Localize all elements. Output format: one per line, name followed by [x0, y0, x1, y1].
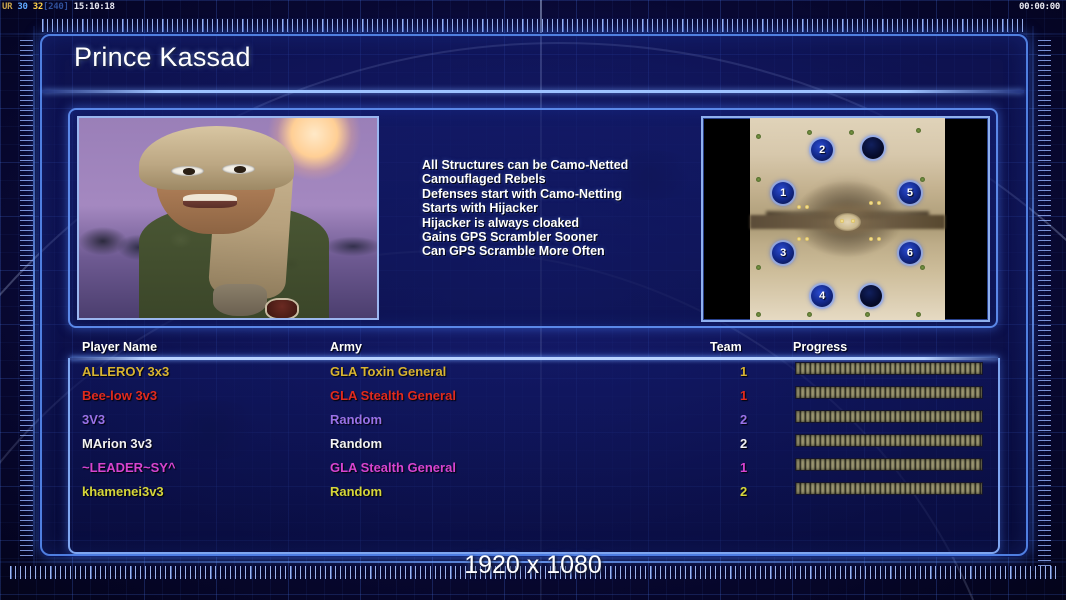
player-name: ALLEROY 3x3 [82, 362, 169, 382]
map-supply-icon [805, 205, 809, 209]
table-row[interactable]: 3V3Random2 [70, 410, 998, 434]
player-army: Random [330, 410, 382, 430]
ruler-top [42, 19, 1026, 32]
player-name: Bee-low 3v3 [82, 386, 157, 406]
player-progress-bar [795, 458, 983, 471]
player-progress-bar [795, 410, 983, 423]
map-preview-image: 215364 [750, 118, 945, 320]
player-progress-bar [795, 482, 983, 495]
player-table-header: Player Name Army Team Progress [70, 340, 998, 358]
map-tree-icon [756, 134, 761, 139]
rail-right [1032, 26, 1034, 571]
player-name: MArion 3v3 [82, 434, 152, 454]
player-list: ALLEROY 3x3GLA Toxin General1Bee-low 3v3… [70, 362, 998, 506]
title-underline [42, 90, 1024, 93]
map-start-position-empty[interactable] [862, 137, 884, 159]
player-team: 1 [740, 362, 747, 382]
map-preview-frame[interactable]: 215364 [701, 116, 990, 322]
table-header-rule [70, 357, 998, 360]
fps-readout: UR 30 32[240] 15:10:18 [2, 0, 115, 14]
system-clock: 15:10:18 [74, 2, 115, 12]
portrait-pupil-right [234, 166, 246, 172]
map-supply-icon [840, 219, 844, 223]
fps-value-c: [240] [43, 2, 69, 12]
fps-value-b: 32 [33, 2, 43, 12]
ruler-right [1038, 40, 1051, 570]
player-progress-bar [795, 362, 983, 375]
map-tree-icon [756, 265, 761, 270]
player-progress-bar [795, 434, 983, 447]
map-tree-icon [756, 312, 761, 317]
player-army: GLA Stealth General [330, 458, 456, 478]
table-row[interactable]: MArion 3v3Random2 [70, 434, 998, 458]
column-header-progress: Progress [793, 340, 847, 354]
map-start-position-3[interactable]: 3 [772, 242, 794, 264]
general-portrait [79, 118, 377, 318]
player-army: Random [330, 434, 382, 454]
map-start-position-2[interactable]: 2 [811, 139, 833, 161]
resolution-label: 1920 x 1080 [0, 551, 1066, 580]
map-tree-icon [916, 128, 921, 133]
column-header-player-name: Player Name [82, 340, 157, 354]
player-team: 2 [740, 482, 747, 502]
portrait-pupil-left [183, 168, 195, 174]
table-row[interactable]: khamenei3v3Random2 [70, 482, 998, 506]
player-team: 1 [740, 458, 747, 478]
player-team: 1 [740, 386, 747, 406]
portrait-hood [139, 126, 294, 190]
map-tree-icon [920, 177, 925, 182]
portrait-cup [267, 300, 297, 318]
portrait-kettle [213, 284, 267, 316]
map-supply-icon [869, 201, 873, 205]
map-start-position-empty[interactable] [860, 285, 882, 307]
map-tree-icon [865, 312, 870, 317]
status-bar: UR 30 32[240] 15:10:18 00:00:00 [0, 0, 1066, 14]
player-team: 2 [740, 410, 747, 430]
table-row[interactable]: ~LEADER~SY^GLA Stealth General1 [70, 458, 998, 482]
map-supply-icon [877, 201, 881, 205]
column-header-army: Army [330, 340, 362, 354]
map-tree-icon [807, 130, 812, 135]
column-header-team: Team [710, 340, 742, 354]
player-progress-bar [795, 386, 983, 399]
map-start-position-6[interactable]: 6 [899, 242, 921, 264]
fps-value-a: 30 [17, 2, 27, 12]
general-info-panel: All Structures can be Camo-NettedCamoufl… [68, 108, 998, 328]
player-name: ~LEADER~SY^ [82, 458, 176, 478]
player-name: 3V3 [82, 410, 105, 430]
table-row[interactable]: ALLEROY 3x3GLA Toxin General1 [70, 362, 998, 386]
game-lobby-screen: UR 30 32[240] 15:10:18 00:00:00 Prince K… [0, 0, 1066, 600]
player-team: 2 [740, 434, 747, 454]
match-timer: 00:00:00 [1019, 0, 1060, 14]
map-supply-icon [877, 237, 881, 241]
portrait-mouth [183, 194, 237, 208]
table-row[interactable]: Bee-low 3v3GLA Stealth General1 [70, 386, 998, 410]
page-title: Prince Kassad [74, 42, 251, 73]
player-army: Random [330, 482, 382, 502]
player-name: khamenei3v3 [82, 482, 164, 502]
player-army: GLA Stealth General [330, 386, 456, 406]
map-supply-icon [797, 205, 801, 209]
rail-left [33, 26, 35, 566]
fps-label: UR [2, 2, 12, 12]
map-supply-icon [797, 237, 801, 241]
map-supply-icon [805, 237, 809, 241]
map-start-position-4[interactable]: 4 [811, 285, 833, 307]
map-tree-icon [916, 312, 921, 317]
map-tree-icon [756, 177, 761, 182]
title-bar: Prince Kassad [40, 36, 1026, 90]
map-tree-icon [807, 312, 812, 317]
map-center-oasis [834, 213, 861, 231]
map-start-position-1[interactable]: 1 [772, 182, 794, 204]
general-portrait-frame [77, 116, 379, 320]
map-tree-icon [920, 265, 925, 270]
map-tree-icon [849, 130, 854, 135]
player-army: GLA Toxin General [330, 362, 446, 382]
ruler-left [20, 40, 33, 560]
map-start-position-5[interactable]: 5 [899, 182, 921, 204]
